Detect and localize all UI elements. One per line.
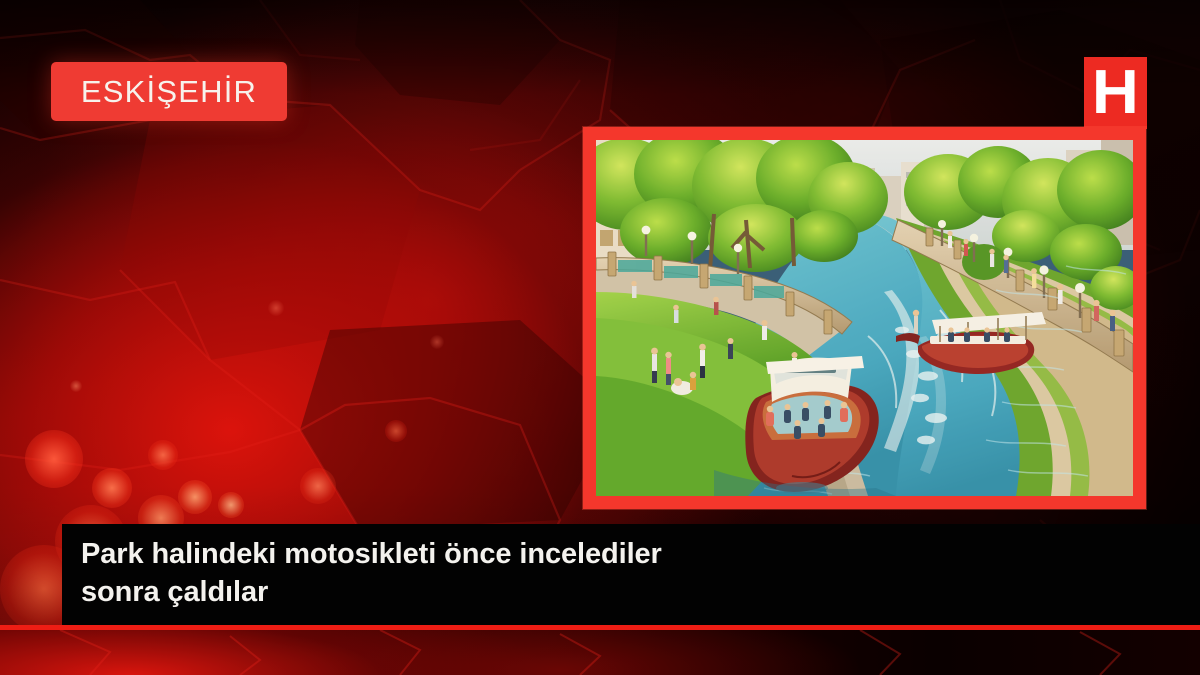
news-card: ESKİŞEHİR H bbox=[0, 0, 1200, 675]
logo-letter-h: H bbox=[1092, 62, 1139, 124]
city-badge[interactable]: ESKİŞEHİR bbox=[51, 62, 287, 121]
photo-frame bbox=[583, 127, 1146, 509]
headline-bar: Park halindeki motosikleti önce inceledi… bbox=[62, 524, 1200, 626]
headline-text: Park halindeki motosikleti önce inceledi… bbox=[81, 536, 721, 611]
haberler-logo[interactable]: H bbox=[1084, 57, 1147, 129]
bottom-strip bbox=[0, 630, 1200, 675]
photo-illustration bbox=[596, 140, 1133, 496]
news-photo bbox=[596, 140, 1133, 496]
bottom-map-lines bbox=[0, 630, 1200, 675]
city-badge-label: ESKİŞEHİR bbox=[81, 74, 257, 110]
